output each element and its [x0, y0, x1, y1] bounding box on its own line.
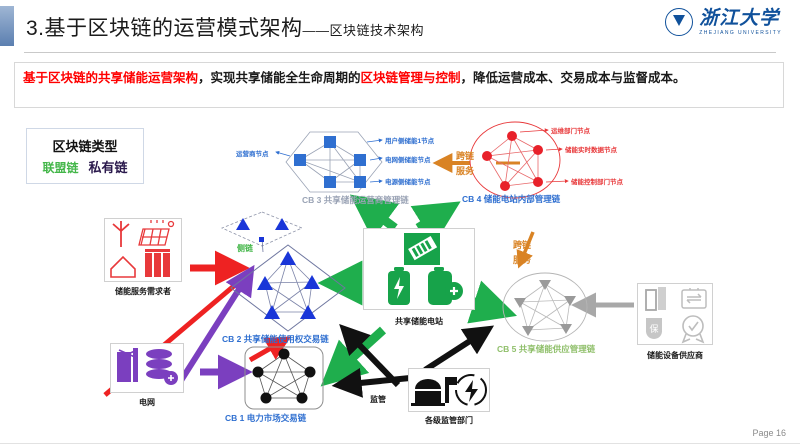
- entity-grid: [110, 343, 184, 393]
- solar-panel-icon: [139, 220, 174, 245]
- banner-seg-1: 基于区块链的共享储能运营架构: [23, 71, 198, 85]
- banner-seg-2: ，实现共享储能全生命周期的: [198, 71, 361, 85]
- cb4-node-label-ops: 运维部门节点: [551, 125, 590, 135]
- entity-caption-grid: 电网: [110, 397, 184, 408]
- cb3-node-label-operator: 运营商节点: [236, 148, 269, 158]
- summary-banner-text: 基于区块链的共享储能运营架构，实现共享储能全生命周期的区块链管理与控制，降低运营…: [23, 69, 775, 88]
- header-divider: [24, 52, 776, 53]
- cb3-node-label-user-storage: 用户侧储能1节点: [385, 135, 434, 145]
- equipment-icon: [646, 287, 666, 310]
- blockchain-type-legend: 区块链类型 联盟链 私有链: [26, 128, 144, 184]
- demander-icons: [105, 219, 181, 281]
- logo-text: 浙江大学 ZHEJIANG UNIVERSITY: [699, 9, 782, 36]
- exchange-icon: [682, 288, 706, 308]
- cross-chain-label-left-top: 跨链: [456, 149, 474, 162]
- grid-icons: [111, 344, 183, 392]
- gov-building-icon: [411, 377, 457, 406]
- page-title-main: 3.基于区块链的运营模式架构: [26, 17, 303, 40]
- cb3-node-label-grid-storage: 电网侧储能节点: [385, 154, 431, 164]
- chain-title-cb3: CB 3 共享储能运营商管理链: [302, 194, 409, 206]
- power-audit-icon: [456, 375, 486, 405]
- page-number: Page 16: [752, 428, 786, 438]
- chain-label-cb5: 共享储能供应管理链: [519, 344, 596, 354]
- page-title-dash: ——: [303, 23, 330, 38]
- chain-label-cb4: 储能电站内部管理链: [484, 194, 561, 204]
- chain-id-cb1: CB 1: [225, 413, 244, 423]
- certified-badge-icon: [683, 316, 703, 342]
- chain-id-cb2: CB 2: [222, 334, 241, 344]
- supplier-icons: 保: [638, 284, 712, 344]
- entity-station: [363, 228, 475, 310]
- entity-supplier: 保: [637, 283, 713, 345]
- university-logo: 浙江大学 ZHEJIANG UNIVERSITY: [665, 8, 782, 36]
- chain-label-cb2: 共享储能使用权交易链: [244, 334, 329, 344]
- building-icon: [145, 249, 170, 277]
- logo-name-en: ZHEJIANG UNIVERSITY: [699, 31, 782, 36]
- legend-items: 联盟链 私有链: [42, 157, 127, 176]
- chain-label-cb1: 电力市场交易链: [247, 413, 307, 423]
- legend-item-consortium: 联盟链: [42, 159, 78, 176]
- battery-plus-icon: [428, 267, 463, 305]
- slide-canvas: 3.基于区块链的运营模式架构——区块链技术架构 浙江大学 ZHEJIANG UN…: [0, 0, 800, 448]
- chain-title-cb2: CB 2 共享储能使用权交易链: [222, 333, 329, 345]
- banner-seg-3: 区块链管理与控制: [361, 71, 461, 85]
- svg-text:保: 保: [649, 323, 658, 335]
- entity-demander: [104, 218, 182, 282]
- chain-label-cb3: 共享储能运营商管理链: [324, 195, 409, 205]
- station-icons: [364, 229, 474, 309]
- sidechain-label: 侧链: [237, 243, 253, 254]
- title-accent-bar: [0, 6, 14, 46]
- cross-chain-label-left-bottom: 服务: [456, 164, 474, 177]
- transmission-tower-icon: [117, 348, 138, 382]
- battery-pack-icon: [404, 233, 440, 265]
- entity-caption-station: 共享储能电站: [376, 316, 462, 327]
- legend-title: 区块链类型: [52, 136, 117, 155]
- chain-id-cb5: CB 5: [497, 344, 516, 354]
- chain-title-cb5: CB 5 共享储能供应管理链: [497, 343, 595, 355]
- supervision-label: 监管: [370, 394, 386, 405]
- chain-id-cb4: CB 4: [462, 194, 481, 204]
- cb4-node-label-realtime-data: 储能实时数据节点: [565, 144, 617, 154]
- cb4-node-label-control-dept: 储能控制部门节点: [571, 176, 623, 186]
- zju-seal-icon: [665, 8, 693, 36]
- banner-seg-4: ，降低运营成本、交易成本与监督成本。: [461, 71, 686, 85]
- data-stack-icon: [146, 349, 178, 385]
- entity-caption-demander: 储能服务需求者: [94, 286, 192, 297]
- cross-chain-label-right-top: 跨链: [513, 238, 531, 251]
- cb3-node-label-source-storage: 电源侧储能节点: [385, 176, 431, 186]
- warranty-shield-icon: 保: [646, 318, 662, 339]
- logo-name-cn: 浙江大学: [699, 9, 782, 28]
- entity-regulator: [408, 368, 490, 412]
- chain-title-cb4: CB 4 储能电站内部管理链: [462, 193, 560, 205]
- chain-title-cb1: CB 1 电力市场交易链: [225, 412, 306, 424]
- house-icon: [111, 257, 135, 277]
- page-title: 3.基于区块链的运营模式架构——区块链技术架构: [26, 12, 424, 42]
- page-title-sub: 区块链技术架构: [330, 23, 425, 38]
- legend-item-private: 私有链: [89, 157, 128, 176]
- entity-caption-regulator: 各级监管部门: [403, 415, 495, 426]
- cross-chain-label-right-bottom: 服务: [513, 253, 531, 266]
- battery-bolt-icon: [388, 267, 410, 305]
- footer-divider: [0, 443, 800, 444]
- chain-id-cb3: CB 3: [302, 195, 321, 205]
- regulator-icons: [409, 369, 489, 411]
- entity-caption-supplier: 储能设备供应商: [629, 350, 721, 361]
- summary-banner: 基于区块链的共享储能运营架构，实现共享储能全生命周期的区块链管理与控制，降低运营…: [14, 62, 784, 108]
